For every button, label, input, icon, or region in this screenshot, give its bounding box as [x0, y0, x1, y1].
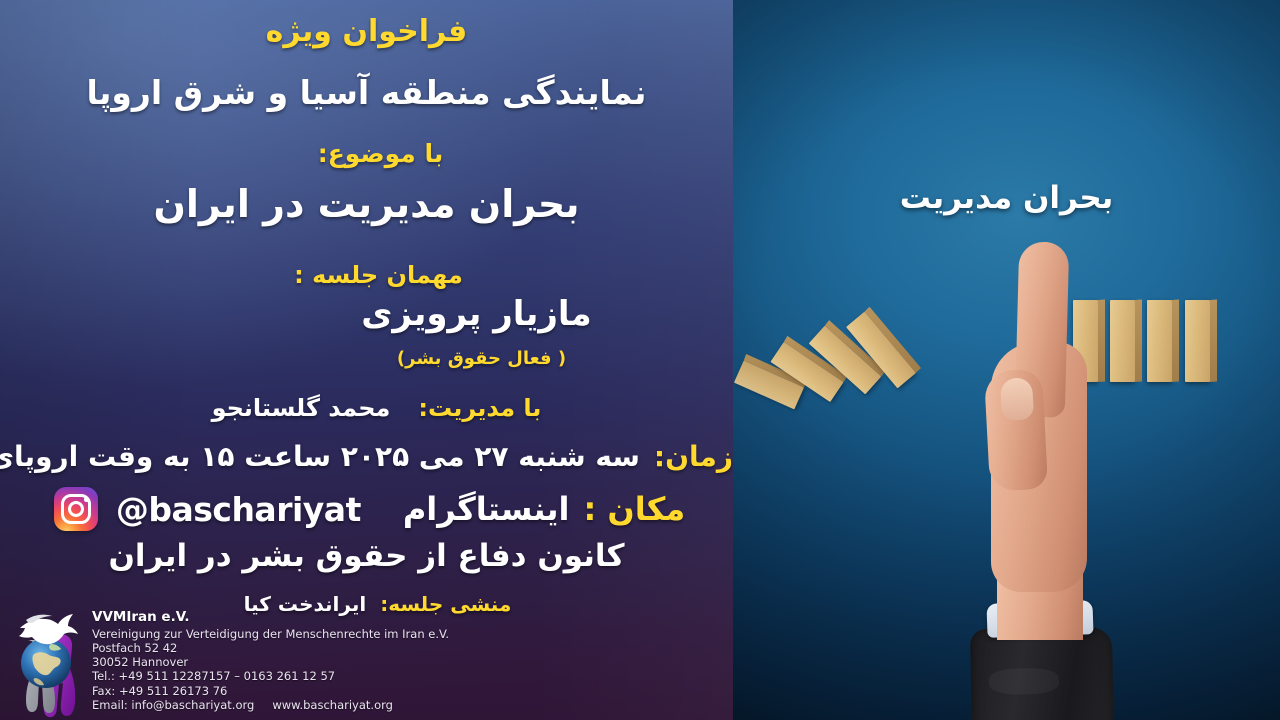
- call-to-action-heading: فراخوان ویژه: [0, 14, 733, 49]
- place-label: مکان :: [583, 490, 685, 528]
- place-row: مکان :اینستاگرام @baschariyat: [0, 487, 733, 531]
- address-line-2: 30052 Hannover: [92, 655, 449, 669]
- time-value: سه شنبه ۲۷ می ۲۰۲۵ ساعت ۱۵ به وقت اروپای…: [0, 440, 640, 473]
- address-line-1: Postfach 52 42: [92, 641, 449, 655]
- contact-address: VVMIran e.V. Vereinigung zur Verteidigun…: [92, 608, 449, 718]
- footer-contact-block: VVMIran e.V. Vereinigung zur Verteidigun…: [0, 590, 449, 720]
- email-website-line: Email: info@baschariyat.orgwww.baschariy…: [92, 698, 449, 712]
- host-row: با مدیریت:محمد گلستانجو: [0, 394, 733, 422]
- left-text-panel: فراخوان ویژه نمایندگی منطقه آسیا و شرق ا…: [0, 0, 733, 720]
- telephone-line: Tel.: +49 511 12287157 – 0163 261 12 57: [92, 669, 449, 683]
- guest-label: مهمان جلسه :: [0, 261, 733, 289]
- suit-sleeve: [970, 627, 1118, 720]
- event-poster: فراخوان ویژه نمایندگی منطقه آسیا و شرق ا…: [0, 0, 1280, 720]
- topic-title: بحران مدیریت در ایران: [0, 182, 733, 226]
- host-label: با مدیریت:: [418, 394, 541, 422]
- subject-label: با موضوع:: [0, 139, 733, 168]
- fax-line: Fax: +49 511 26173 76: [92, 684, 449, 698]
- organization-title: کانون دفاع از حقوق بشر در ایران: [0, 538, 733, 574]
- thumb-nail: [1000, 377, 1034, 421]
- hand-stopping-dominoes: [971, 250, 1131, 720]
- guest-role: ( فعال حقوق بشر): [0, 348, 733, 369]
- photo-title: بحران مدیریت: [733, 180, 1280, 216]
- org-name: VVMIran e.V.: [92, 608, 449, 627]
- guest-name: مازیار پرویزی: [0, 294, 733, 334]
- place-platform: اینستاگرام: [403, 490, 570, 528]
- instagram-handle[interactable]: @baschariyat: [116, 490, 361, 529]
- email-address[interactable]: Email: info@baschariyat.org: [92, 698, 254, 712]
- time-row: زمان:سه شنبه ۲۷ می ۲۰۲۵ ساعت ۱۵ به وقت ا…: [0, 440, 733, 473]
- branch-heading: نمایندگی منطقه آسیا و شرق اروپا: [0, 73, 733, 112]
- website-url[interactable]: www.baschariyat.org: [272, 698, 393, 712]
- photo-panel: بحران مدیریت: [733, 0, 1280, 720]
- address-line-0: Vereinigung zur Verteidigung der Mensche…: [92, 627, 449, 641]
- instagram-icon[interactable]: [54, 487, 98, 531]
- host-name: محمد گلستانجو: [212, 394, 391, 422]
- time-label: زمان:: [654, 440, 733, 473]
- dove-globe-logo: [6, 590, 84, 718]
